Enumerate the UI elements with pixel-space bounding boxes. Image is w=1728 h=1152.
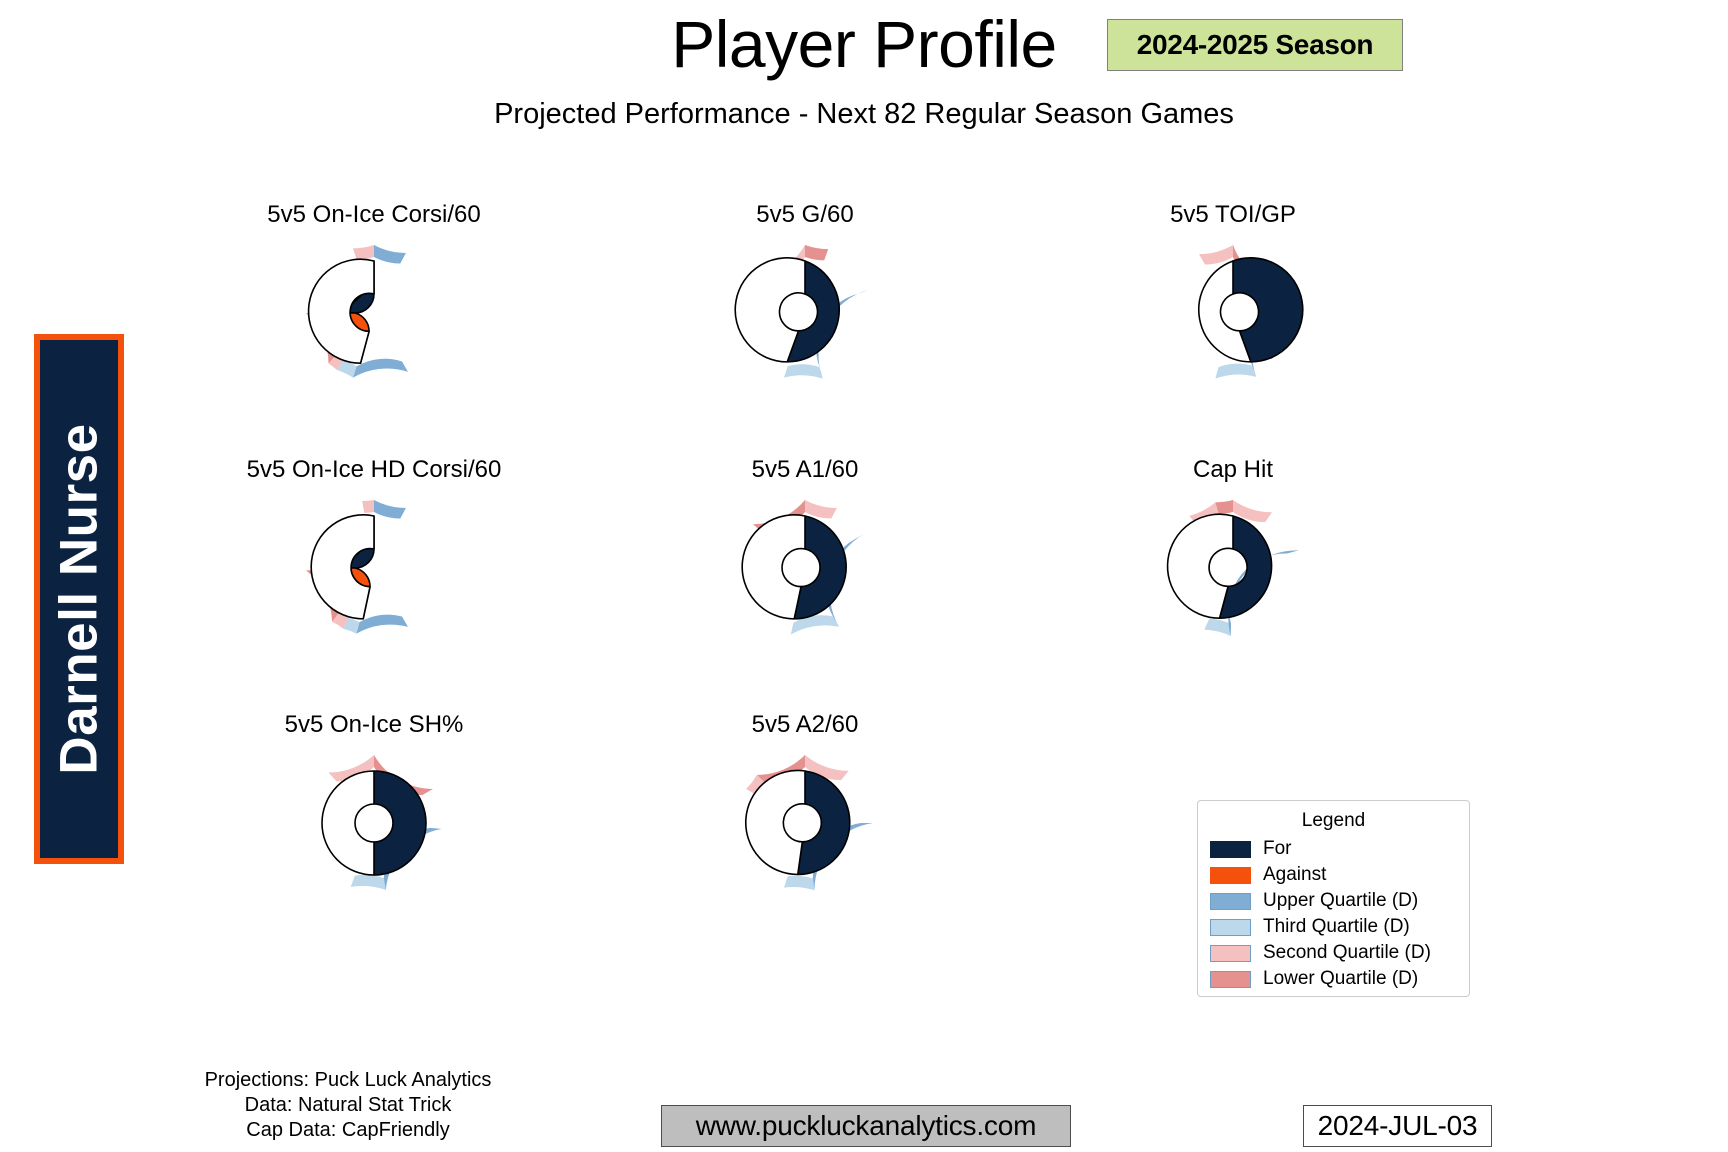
chart-title-a260: 5v5 A2/60 [655,710,955,740]
ring-segment [784,364,823,378]
ring-segment [805,500,837,519]
legend-label: Upper Quartile (D) [1263,890,1418,912]
legend-item: For [1210,836,1457,862]
pie-wedge-empty [311,515,374,619]
donut-hdcorsi60 [299,493,449,643]
pie-wedge-empty [322,771,374,875]
credits-cap-data: Cap Data: CapFriendly [158,1118,538,1143]
website-bar[interactable]: www.puckluckanalytics.com [661,1105,1071,1147]
legend-label: Lower Quartile (D) [1263,968,1418,990]
player-name-plate: Darnell Nurse [34,334,124,864]
legend-item: Lower Quartile (D) [1210,966,1457,992]
ring-segment [374,245,406,264]
chart-title-g60: 5v5 G/60 [655,200,955,230]
legend-swatch-icon [1210,919,1251,936]
chart-title-corsi60: 5v5 On-Ice Corsi/60 [224,200,524,230]
ring-segment [805,245,828,260]
donut-caphit [1158,493,1308,643]
date-box: 2024-JUL-03 [1303,1105,1492,1147]
player-name-label: Darnell Nurse [49,423,110,774]
ring-segment [362,500,374,513]
pie-wedge-empty [742,515,805,619]
ring-segment [353,245,374,260]
donut-corsi60 [299,238,449,388]
ring-segment [1215,500,1233,514]
ring-segment [1204,619,1231,636]
chart-sh: 5v5 On-Ice SH% [224,710,524,960]
legend-item: Against [1210,862,1457,888]
pie-wedge-for [374,771,426,875]
legend-label: Second Quartile (D) [1263,942,1431,964]
legend-item: Upper Quartile (D) [1210,888,1457,914]
chart-corsi60: 5v5 On-Ice Corsi/60 [224,200,524,450]
ring-segment [1199,245,1233,265]
chart-a160: 5v5 A1/60 [655,455,955,705]
chart-title-caphit: Cap Hit [1083,455,1383,485]
chart-hdcorsi60: 5v5 On-Ice HD Corsi/60 [224,455,524,705]
legend-title: Legend [1210,809,1457,833]
chart-caphit: Cap Hit [1083,455,1383,705]
legend-item: Third Quartile (D) [1210,914,1457,940]
ring-segment [374,500,406,519]
legend-items: ForAgainstUpper Quartile (D)Third Quarti… [1210,836,1457,992]
chart-toigp: 5v5 TOI/GP [1083,200,1383,450]
legend-swatch-icon [1210,971,1251,988]
season-badge: 2024-2025 Season [1107,19,1403,71]
chart-title-sh: 5v5 On-Ice SH% [224,710,524,740]
page-title: Player Profile [0,6,1728,82]
donut-g60 [730,238,880,388]
legend-swatch-icon [1210,841,1251,858]
pie-wedge-empty [1168,514,1233,618]
chart-title-toigp: 5v5 TOI/GP [1083,200,1383,230]
ring-segment [784,876,814,891]
legend: Legend ForAgainstUpper Quartile (D)Third… [1197,800,1470,997]
legend-swatch-icon [1210,893,1251,910]
chart-g60: 5v5 G/60 [655,200,955,450]
legend-swatch-icon [1210,945,1251,962]
donut-toigp [1158,238,1308,388]
legend-swatch-icon [1210,867,1251,884]
donut-a160 [730,493,880,643]
donut-a260 [730,748,880,898]
credits-data: Data: Natural Stat Trick [158,1093,538,1118]
credits-projections: Projections: Puck Luck Analytics [158,1068,538,1093]
legend-label: Against [1263,864,1326,886]
credits: Projections: Puck Luck Analytics Data: N… [158,1068,538,1143]
chart-title-a160: 5v5 A1/60 [655,455,955,485]
chart-a260: 5v5 A2/60 [655,710,955,960]
legend-label: Third Quartile (D) [1263,916,1410,938]
page-subtitle: Projected Performance - Next 82 Regular … [0,95,1728,133]
ring-segment [351,875,386,890]
chart-title-hdcorsi60: 5v5 On-Ice HD Corsi/60 [224,455,524,485]
legend-label: For [1263,838,1292,860]
donut-sh [299,748,449,898]
legend-item: Second Quartile (D) [1210,940,1457,966]
ring-segment [1215,364,1256,379]
